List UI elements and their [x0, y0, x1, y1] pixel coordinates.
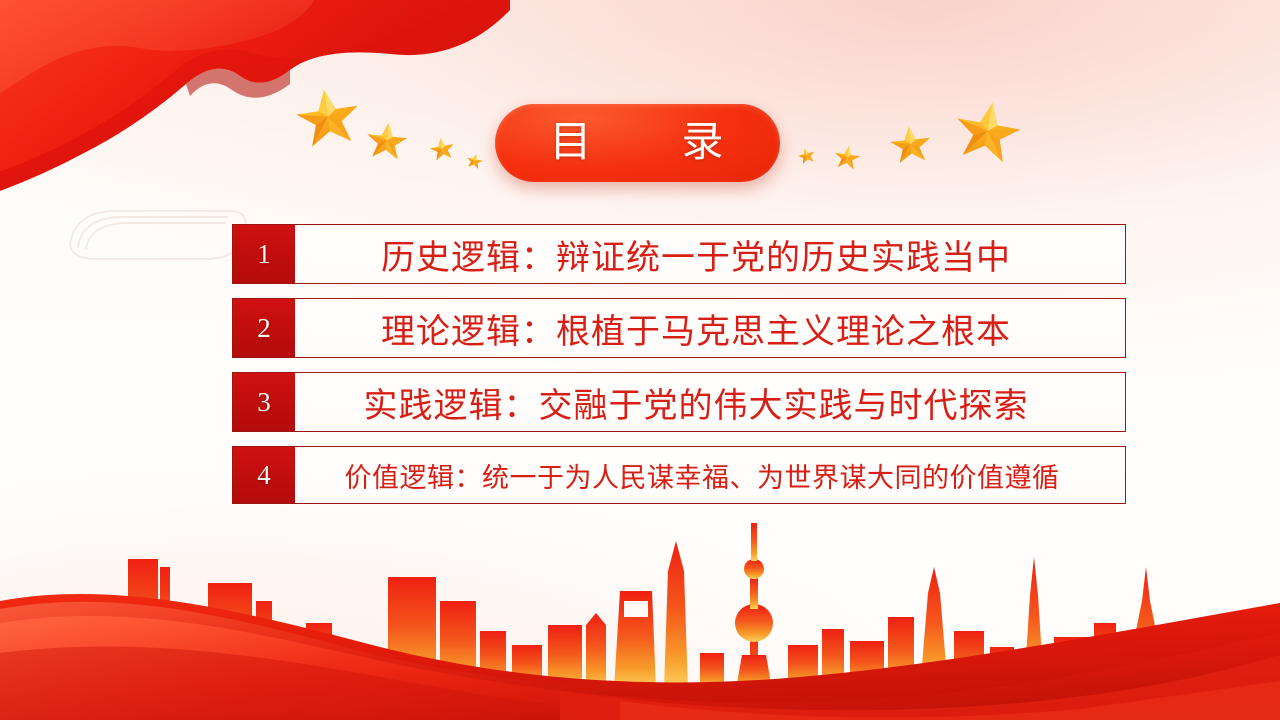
toc-item-label: 价值逻辑：统一于为人民谋幸福、为世界谋大同的价值遵循 [295, 456, 1125, 495]
toc-item-label: 实践逻辑：交融于党的伟大实践与时代探索 [295, 378, 1125, 427]
toc-list: 1 历史逻辑：辩证统一于党的历史实践当中 2 理论逻辑：根植于马克思主义理论之根… [232, 224, 1128, 504]
toc-item-4[interactable]: 4 价值逻辑：统一于为人民谋幸福、为世界谋大同的价值遵循 [232, 446, 1126, 504]
page-title: 目 录 [549, 122, 725, 164]
toc-number-badge: 2 [233, 299, 295, 357]
toc-item-1[interactable]: 1 历史逻辑：辩证统一于党的历史实践当中 [232, 224, 1126, 284]
toc-number-badge: 4 [233, 447, 295, 503]
toc-item-label: 历史逻辑：辩证统一于党的历史实践当中 [295, 230, 1125, 279]
toc-item-3[interactable]: 3 实践逻辑：交融于党的伟大实践与时代探索 [232, 372, 1126, 432]
bottom-decoration [0, 505, 1280, 720]
toc-number-badge: 3 [233, 373, 295, 431]
toc-item-2[interactable]: 2 理论逻辑：根植于马克思主义理论之根本 [232, 298, 1126, 358]
toc-item-label: 理论逻辑：根植于马克思主义理论之根本 [295, 304, 1125, 353]
toc-title-pill: 目 录 [495, 104, 780, 182]
toc-number-badge: 1 [233, 225, 295, 283]
presentation-slide: 目 录 1 历史逻辑：辩证统一于党的历史实践当中 2 理论逻辑：根植于马克思主义… [0, 0, 1280, 720]
